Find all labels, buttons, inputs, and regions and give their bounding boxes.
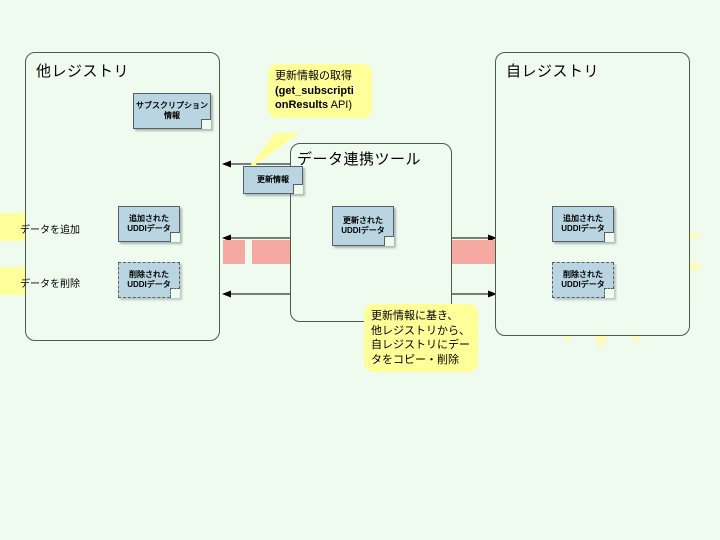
doc-deleted-uddi-left-line2: UDDIデータ bbox=[127, 280, 171, 290]
callout-copy-delete: 更新情報に基き、 他レジストリから、 自レジストリにデー タをコピー・削除 bbox=[364, 304, 478, 372]
callout-get-subscription: 更新情報の取得 (get_subscripti onResults API) bbox=[268, 64, 372, 118]
callout-copy-delete-line2: 他レジストリから、 bbox=[371, 324, 471, 339]
document-fold-icon bbox=[170, 288, 180, 298]
doc-subscription-info-line2: 情報 bbox=[164, 111, 180, 121]
callout-get-subscription-line3-rest: API) bbox=[328, 99, 352, 111]
callout-copy-delete-line3: 自レジストリにデー bbox=[371, 338, 471, 353]
container-own-registry-title: 自レジストリ bbox=[506, 60, 599, 81]
callout-get-subscription-line3: onResults API) bbox=[275, 98, 365, 113]
connector-arrowheads-left bbox=[222, 161, 231, 298]
doc-deleted-uddi-left: 削除された UDDIデータ bbox=[118, 262, 180, 298]
callout-get-subscription-line1: 更新情報の取得 bbox=[275, 69, 365, 84]
doc-deleted-uddi-left-line1: 削除された bbox=[129, 270, 169, 280]
container-other-registry-title: 他レジストリ bbox=[36, 60, 129, 81]
doc-deleted-uddi-right-line2: UDDIデータ bbox=[561, 280, 605, 290]
document-fold-icon bbox=[170, 232, 180, 242]
doc-update-info: 更新情報 bbox=[243, 166, 303, 194]
yellow-arrow-delete-data-label: データを削除 bbox=[20, 275, 80, 290]
doc-added-uddi-left-line2: UDDIデータ bbox=[127, 224, 171, 234]
container-tool-title: データ連携ツール bbox=[297, 148, 421, 169]
document-fold-icon bbox=[604, 288, 614, 298]
doc-subscription-info: サブスクリプション 情報 bbox=[133, 93, 211, 129]
document-fold-icon bbox=[384, 236, 394, 246]
doc-added-uddi-left-line1: 追加された bbox=[129, 214, 169, 224]
callout-copy-delete-line1: 更新情報に基き、 bbox=[371, 309, 471, 324]
doc-added-uddi-right: 追加された UDDIデータ bbox=[552, 206, 614, 242]
doc-subscription-info-line1: サブスクリプション bbox=[136, 101, 208, 111]
doc-updated-uddi-tool-line2: UDDIデータ bbox=[341, 226, 385, 236]
doc-added-uddi-right-line2: UDDIデータ bbox=[561, 224, 605, 234]
doc-update-info-line1: 更新情報 bbox=[257, 175, 289, 185]
yellow-arrow-add-data-label: データを追加 bbox=[20, 221, 80, 236]
document-fold-icon bbox=[201, 119, 211, 129]
callout-get-subscription-line3-bold: onResults bbox=[275, 99, 328, 111]
doc-added-uddi-right-line1: 追加された bbox=[563, 214, 603, 224]
document-fold-icon bbox=[604, 232, 614, 242]
doc-updated-uddi-tool: 更新された UDDIデータ bbox=[332, 206, 394, 246]
diagram-canvas: 他レジストリ データ連携ツール 自レジストリ サブスクリプション 情報 更新情報… bbox=[0, 0, 720, 540]
doc-deleted-uddi-right-line1: 削除された bbox=[563, 270, 603, 280]
doc-updated-uddi-tool-line1: 更新された bbox=[343, 216, 383, 226]
document-fold-icon bbox=[293, 184, 303, 194]
callout-get-subscription-line2: (get_subscripti bbox=[275, 84, 365, 99]
callout-copy-delete-line4: タをコピー・削除 bbox=[371, 353, 471, 368]
doc-added-uddi-left: 追加された UDDIデータ bbox=[118, 206, 180, 242]
doc-deleted-uddi-right: 削除された UDDIデータ bbox=[552, 262, 614, 298]
